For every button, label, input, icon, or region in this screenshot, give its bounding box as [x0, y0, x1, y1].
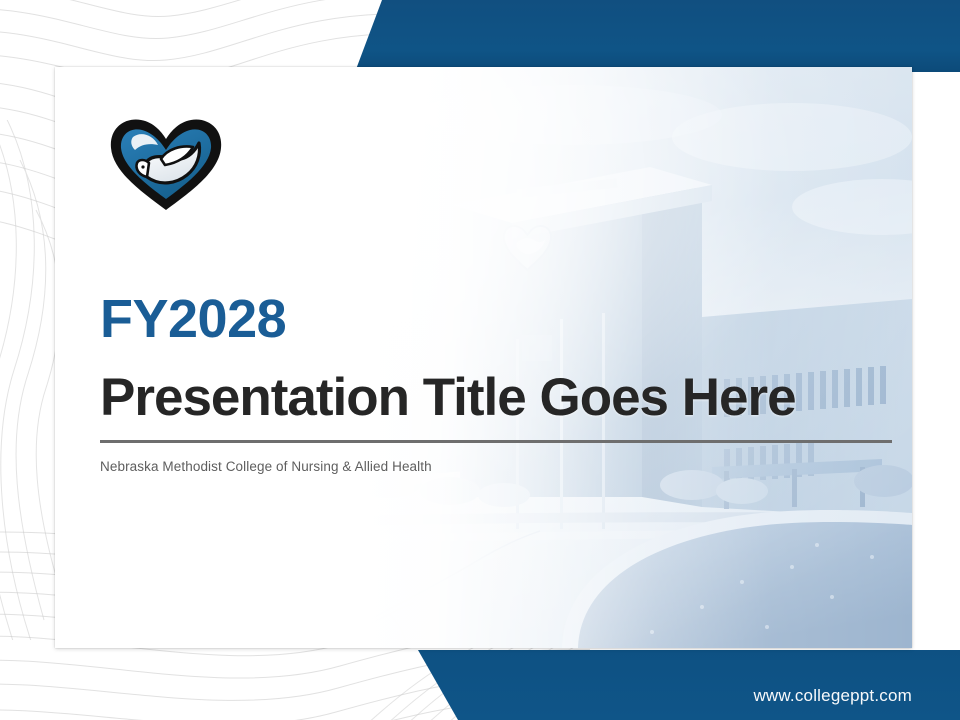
presentation-slide: FY2028 Presentation Title Goes Here Nebr…	[55, 67, 912, 648]
accent-shape-bottom-right	[0, 640, 960, 720]
title-divider	[100, 440, 892, 443]
site-watermark: www.collegeppt.com	[753, 686, 912, 706]
page-title: Presentation Title Goes Here	[100, 370, 890, 426]
heart-dove-logo-icon	[103, 115, 229, 215]
slide-canvas: FY2028 Presentation Title Goes Here Nebr…	[0, 0, 960, 720]
institution-subtitle: Nebraska Methodist College of Nursing & …	[100, 459, 890, 474]
accent-shape-top-right	[0, 0, 960, 72]
title-block: FY2028 Presentation Title Goes Here Nebr…	[100, 292, 890, 474]
fiscal-year-label: FY2028	[100, 292, 890, 346]
